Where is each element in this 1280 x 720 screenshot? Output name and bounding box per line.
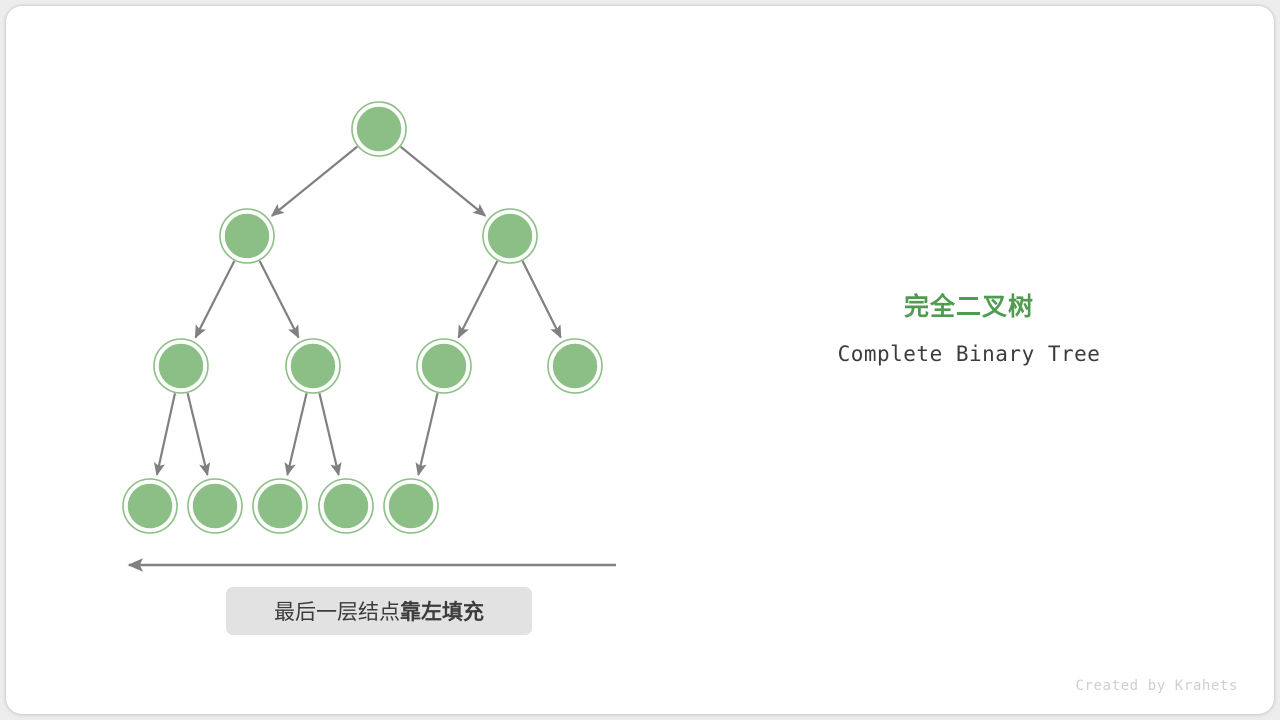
caption-badge: 最后一层结点靠左填充 [226,587,532,635]
tree-node[interactable] [188,479,242,533]
tree-edge [458,261,497,338]
tree-edge [418,393,437,475]
tree-node-circle [257,483,303,529]
tree-edge [523,261,561,337]
tree-node[interactable] [548,339,602,393]
tree-node[interactable] [319,479,373,533]
title-english: Complete Binary Tree [760,342,1178,366]
caption-emphasis: 靠左填充 [400,601,484,624]
tree-node[interactable] [220,209,274,263]
tree-node-circle [487,213,533,259]
tree-edges-layer [157,147,561,475]
tree-node-circle [421,343,467,389]
tree-node[interactable] [384,479,438,533]
tree-nodes-layer [123,102,602,533]
tree-node-circle [323,483,369,529]
tree-node[interactable] [483,209,537,263]
tree-edge [319,393,338,475]
tree-node-circle [192,483,238,529]
tree-edge [157,393,175,474]
caption-text: 最后一层结点靠左填充 [274,596,484,626]
tree-node[interactable] [286,339,340,393]
tree-node-circle [388,483,434,529]
tree-edge [188,393,208,475]
tree-node-circle [552,343,598,389]
title-block: 完全二叉树 Complete Binary Tree [760,292,1178,366]
tree-edge [401,147,486,216]
title-chinese: 完全二叉树 [760,292,1178,322]
credit-label: Created by Krahets [1075,678,1238,694]
tree-edge [272,147,357,216]
tree-node[interactable] [154,339,208,393]
tree-node[interactable] [417,339,471,393]
tree-node-circle [158,343,204,389]
screenshot-stage: 完全二叉树 Complete Binary Tree 最后一层结点靠左填充 Cr… [0,0,1280,720]
tree-node-circle [224,213,270,259]
tree-edge [195,261,234,338]
tree-edge [260,261,299,338]
tree-node[interactable] [352,102,406,156]
tree-edge [287,393,306,475]
tree-node[interactable] [123,479,177,533]
tree-node-circle [290,343,336,389]
tree-node[interactable] [253,479,307,533]
caption-prefix: 最后一层结点 [274,601,400,624]
tree-node-circle [356,106,402,152]
tree-node-circle [127,483,173,529]
